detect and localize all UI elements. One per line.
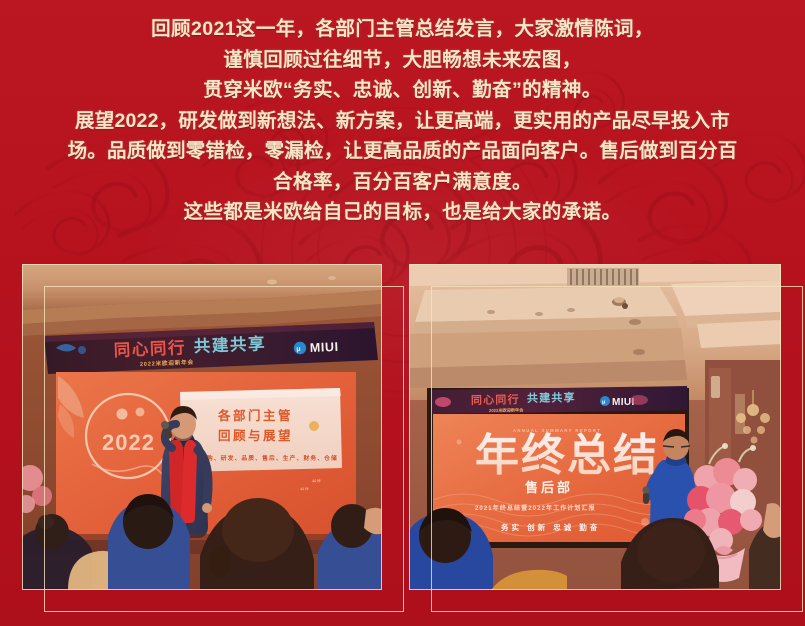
photo-frame-right[interactable]: 同心同行 共建共享 2022米欧迎新年会 μ MIUI [409, 264, 781, 590]
headline-line-7: 这些都是米欧给自己的目标，也是给大家的承诺。 [0, 197, 805, 228]
headline-line-4: 展望2022，研发做到新想法、新方案，让更高端，更实用的产品尽早投入市 [0, 106, 805, 137]
headline-line-6: 合格率，百分百客户满意度。 [0, 167, 805, 198]
photo-gallery: 同心同行 共建共享 2022米欧迎新年会 μ MIUI [0, 264, 805, 626]
headline-paragraph: 回顾2021这一年，各部门主管总结发言，大家激情陈词， 谨慎回顾过往细节，大胆畅… [0, 14, 805, 228]
photo-frame-left[interactable]: 同心同行 共建共享 2022米欧迎新年会 μ MIUI [22, 264, 382, 590]
photo-left[interactable]: 同心同行 共建共享 2022米欧迎新年会 μ MIUI [22, 264, 382, 590]
headline-line-3: 贯穿米欧“务实、忠诚、创新、勤奋”的精神。 [0, 75, 805, 106]
poster-root: 回顾2021这一年，各部门主管总结发言，大家激情陈词， 谨慎回顾过往细节，大胆畅… [0, 0, 805, 626]
headline-line-2: 谨慎回顾过往细节，大胆畅想未来宏图， [0, 45, 805, 76]
headline-line-5: 场。品质做到零错检，零漏检，让更高品质的产品面向客户。售后做到百分百 [0, 136, 805, 167]
photo-right[interactable]: 同心同行 共建共享 2022米欧迎新年会 μ MIUI [409, 264, 781, 590]
headline-line-1: 回顾2021这一年，各部门主管总结发言，大家激情陈词， [0, 14, 805, 45]
